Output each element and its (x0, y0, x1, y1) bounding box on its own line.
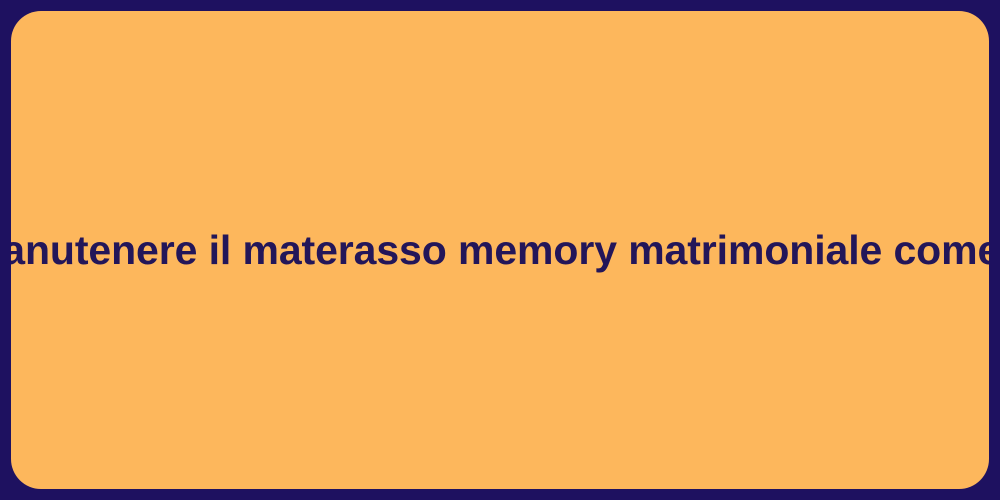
headline-card: Come manutenere il materasso memory matr… (11, 11, 989, 489)
page-canvas: Come manutenere il materasso memory matr… (0, 0, 1000, 500)
page-title: Come manutenere il materasso memory matr… (11, 228, 989, 273)
